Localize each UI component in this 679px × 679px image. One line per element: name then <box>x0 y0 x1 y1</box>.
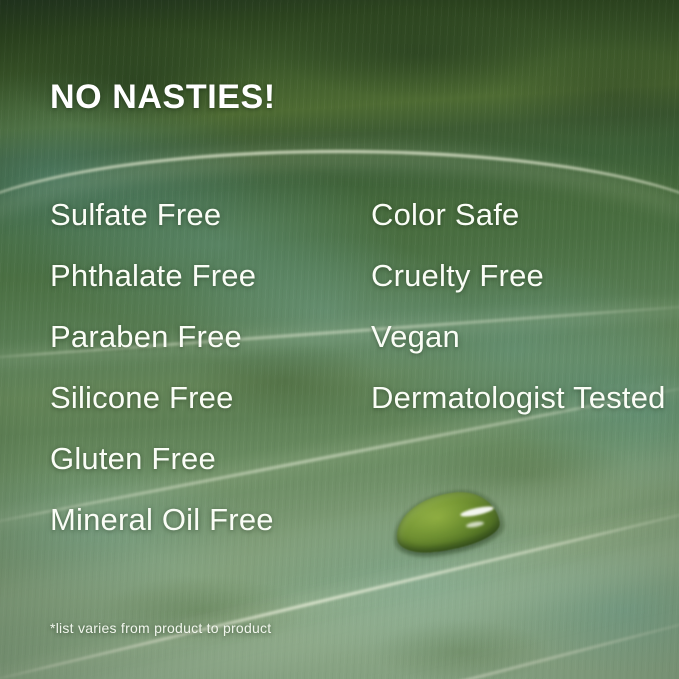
claim-item-dermatologist-tested: Dermatologist Tested <box>371 379 671 417</box>
claim-item-color-safe: Color Safe <box>371 196 671 234</box>
claim-item-mineral-oil-free: Mineral Oil Free <box>50 501 370 539</box>
claims-column-left: Sulfate Free Phthalate Free Paraben Free… <box>50 196 370 562</box>
claim-item-paraben-free: Paraben Free <box>50 318 370 356</box>
claim-item-cruelty-free: Cruelty Free <box>371 257 671 295</box>
claim-item-sulfate-free: Sulfate Free <box>50 196 370 234</box>
footnote-disclaimer: *list varies from product to product <box>50 620 271 636</box>
claim-item-vegan: Vegan <box>371 318 671 356</box>
claim-item-gluten-free: Gluten Free <box>50 440 370 478</box>
claim-item-phthalate-free: Phthalate Free <box>50 257 370 295</box>
claim-item-silicone-free: Silicone Free <box>50 379 370 417</box>
no-nasties-poster: NO NASTIES! Sulfate Free Phthalate Free … <box>0 0 679 679</box>
claims-column-right: Color Safe Cruelty Free Vegan Dermatolog… <box>371 196 671 440</box>
poster-content: NO NASTIES! Sulfate Free Phthalate Free … <box>0 0 679 679</box>
page-title: NO NASTIES! <box>50 78 276 117</box>
